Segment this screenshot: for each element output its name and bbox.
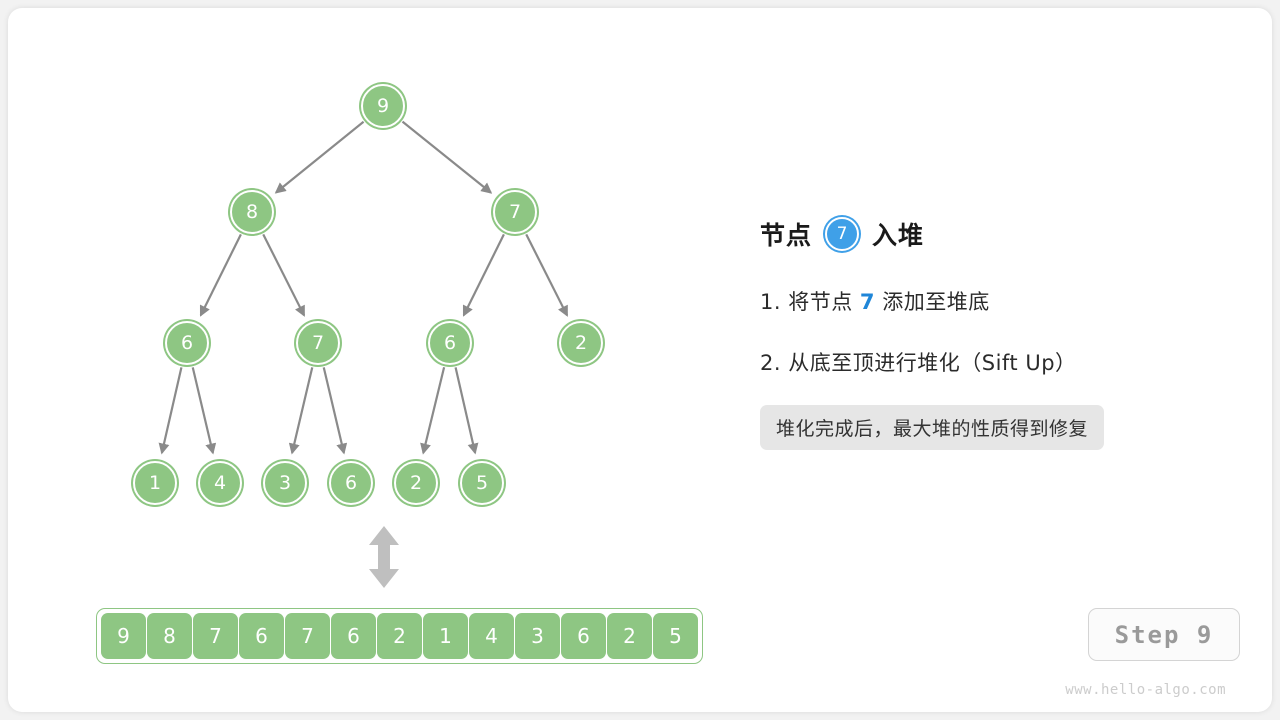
tree-node: 7: [296, 321, 340, 365]
array-cell: 6: [331, 613, 376, 659]
panel-step-1: 1. 将节点 7 添加至堆底: [760, 286, 1220, 316]
tree-edge: [201, 234, 241, 315]
tree-node: 9: [361, 84, 405, 128]
tree-node: 1: [133, 461, 177, 505]
array-cell: 4: [469, 613, 514, 659]
tree-edge: [193, 367, 213, 452]
step-2-number: 2.: [760, 351, 781, 375]
tree-node: 6: [428, 321, 472, 365]
array-cell: 9: [101, 613, 146, 659]
tree-edge: [324, 367, 344, 452]
array-cell: 6: [239, 613, 284, 659]
tree-node: 2: [559, 321, 603, 365]
step-1-number: 1.: [760, 290, 781, 314]
array-cell: 6: [561, 613, 606, 659]
panel-title-prefix: 节点: [760, 216, 812, 252]
tree-edge: [162, 367, 182, 452]
tree-edge: [402, 122, 490, 193]
array-cell: 7: [193, 613, 238, 659]
tree-array-link-icon: [366, 526, 402, 593]
tree-edge: [292, 367, 312, 452]
panel-title: 节点 7 入堆: [760, 213, 1220, 255]
step-2-before: 从底至顶进行堆化（Sift Up）: [788, 351, 1076, 375]
tree-edge: [263, 234, 304, 315]
step-1-after: 添加至堆底: [882, 290, 990, 314]
panel-step-2: 2. 从底至顶进行堆化（Sift Up）: [760, 347, 1220, 377]
tree-node: 8: [230, 190, 274, 234]
panel-title-suffix: 入堆: [872, 216, 924, 252]
result-note: 堆化完成后，最大堆的性质得到修复: [760, 405, 1104, 450]
tree-node: 6: [165, 321, 209, 365]
array-cell: 5: [653, 613, 698, 659]
tree-node: 6: [329, 461, 373, 505]
tree-edge: [423, 367, 444, 453]
watermark: www.hello-algo.com: [1065, 682, 1226, 698]
heap-array: 9876762143625: [96, 608, 703, 664]
array-cell: 8: [147, 613, 192, 659]
tree-node: 5: [460, 461, 504, 505]
heap-tree: 9876762143625 9876762143625: [8, 8, 748, 728]
array-cell: 2: [607, 613, 652, 659]
info-panel: 节点 7 入堆 1. 将节点 7 添加至堆底 2. 从底至顶进行堆化（Sift …: [760, 213, 1220, 450]
tree-edge: [464, 234, 504, 315]
tree-node: 7: [493, 190, 537, 234]
step-1-highlight: 7: [860, 290, 875, 314]
panel-title-badge: 7: [825, 217, 859, 251]
tree-node: 4: [198, 461, 242, 505]
tree-node: 3: [263, 461, 307, 505]
array-cell: 3: [515, 613, 560, 659]
step-1-before: 将节点: [788, 290, 853, 314]
array-cell: 1: [423, 613, 468, 659]
array-cell: 2: [377, 613, 422, 659]
tree-edge: [276, 122, 363, 193]
tree-edge: [456, 367, 476, 452]
step-badge: Step 9: [1088, 608, 1240, 661]
tree-node: 2: [394, 461, 438, 505]
array-cell: 7: [285, 613, 330, 659]
tree-edge: [526, 234, 567, 315]
diagram-card: 9876762143625 9876762143625 节点 7 入堆 1. 将…: [8, 8, 1272, 712]
screenshot-root: 9876762143625 9876762143625 节点 7 入堆 1. 将…: [0, 0, 1280, 720]
